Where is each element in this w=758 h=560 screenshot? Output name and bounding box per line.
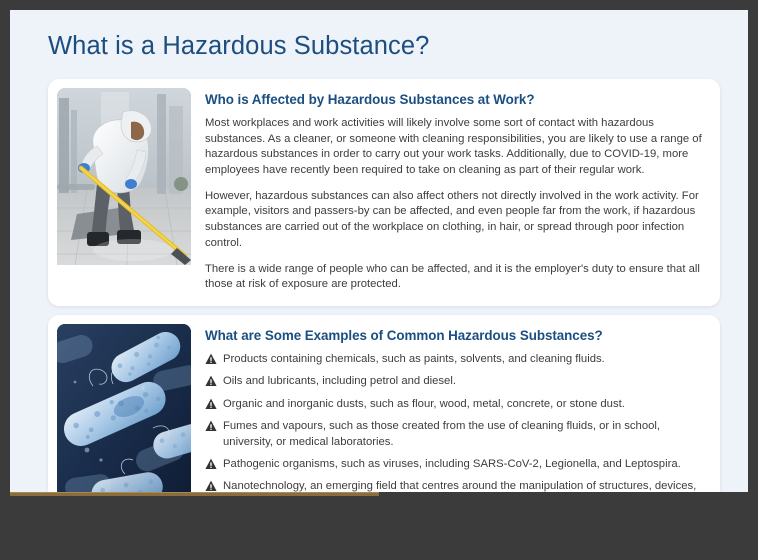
list-item: Nanotechnology, an emerging field that c… [205, 479, 705, 492]
card-heading: What are Some Examples of Common Hazardo… [205, 328, 705, 343]
card-body: Who is Affected by Hazardous Substances … [191, 88, 711, 297]
player-toolbar: Page 9 of 18 | 50% Completed Prev Next [0, 496, 758, 560]
card-paragraph: Most workplaces and work activities will… [205, 116, 705, 179]
content-card-examples: What are Some Examples of Common Hazardo… [48, 315, 720, 492]
list-item: Products containing chemicals, such as p… [205, 352, 705, 368]
list-item-text: Nanotechnology, an emerging field that c… [223, 480, 696, 492]
card-paragraph: There is a wide range of people who can … [205, 262, 705, 293]
list-item-text: Fumes and vapours, such as those created… [223, 420, 660, 448]
cleaner-mopping-illustration [57, 88, 191, 265]
course-player-frame: What is a Hazardous Substance? [0, 0, 758, 560]
warning-triangle-icon [205, 353, 217, 365]
bacteria-illustration [57, 324, 191, 492]
list-item-text: Organic and inorganic dusts, such as flo… [223, 398, 625, 410]
list-item-text: Products containing chemicals, such as p… [223, 353, 605, 365]
list-item-text: Oils and lubricants, including petrol an… [223, 375, 456, 387]
list-item: Pathogenic organisms, such as viruses, i… [205, 457, 705, 473]
list-item: Organic and inorganic dusts, such as flo… [205, 397, 705, 413]
list-item: Oils and lubricants, including petrol an… [205, 374, 705, 390]
card-heading: Who is Affected by Hazardous Substances … [205, 92, 705, 107]
bacteria-microscope-photo [57, 324, 191, 492]
warning-triangle-icon [205, 458, 217, 470]
warning-triangle-icon [205, 398, 217, 410]
list-item-text: Pathogenic organisms, such as viruses, i… [223, 458, 681, 470]
card-body: What are Some Examples of Common Hazardo… [191, 324, 711, 492]
list-item: Fumes and vapours, such as those created… [205, 419, 705, 451]
hazard-examples-list: Products containing chemicals, such as p… [205, 352, 705, 492]
content-cards: Who is Affected by Hazardous Substances … [10, 61, 748, 492]
cleaner-mopping-photo [57, 88, 191, 297]
content-card-affected: Who is Affected by Hazardous Substances … [48, 79, 720, 306]
warning-triangle-icon [205, 375, 217, 387]
slide-panel: What is a Hazardous Substance? [10, 10, 748, 492]
warning-triangle-icon [205, 420, 217, 432]
card-paragraph: However, hazardous substances can also a… [205, 189, 705, 252]
page-title: What is a Hazardous Substance? [10, 10, 748, 61]
warning-triangle-icon [205, 480, 217, 492]
